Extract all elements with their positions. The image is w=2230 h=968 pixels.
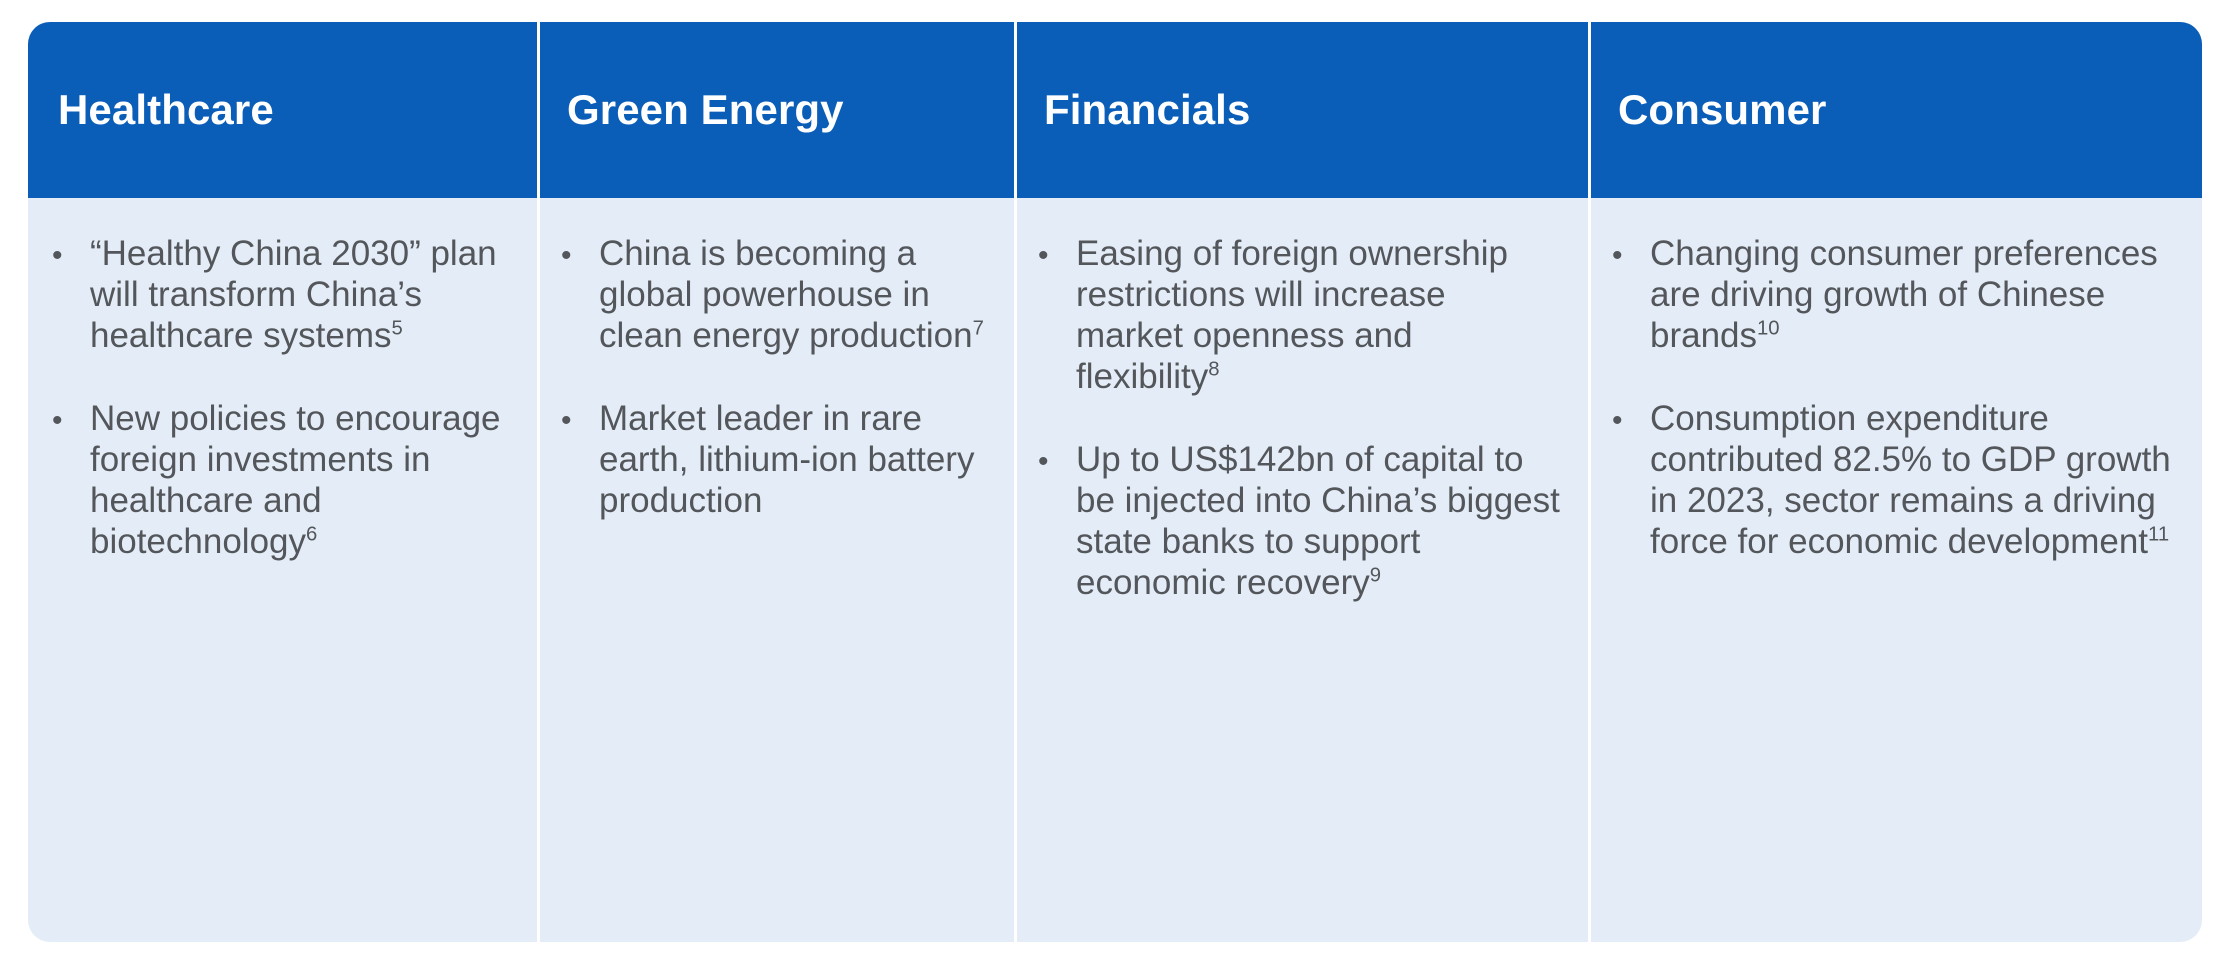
bullet-text: Market leader in rare earth, lithium-ion… (599, 399, 988, 522)
bullet-text: Changing consumer preferences are drivin… (1650, 234, 2176, 357)
bullet-text: China is becoming a global powerhouse in… (599, 234, 988, 357)
table-body-cell-healthcare: • “Healthy China 2030” plan will transfo… (28, 198, 537, 942)
column-header-label: Healthcare (58, 87, 274, 133)
table-body-cell-financials: • Easing of foreign ownership restrictio… (1014, 198, 1588, 942)
footnote-marker: 10 (1757, 317, 1780, 339)
column-header-label: Financials (1044, 87, 1250, 133)
footnote-marker: 6 (306, 523, 317, 545)
list-item: • Consumption expenditure contributed 82… (1612, 399, 2176, 563)
bullet-dot-icon: • (52, 234, 90, 276)
footnote-marker: 5 (392, 317, 403, 339)
bullet-dot-icon: • (1612, 399, 1650, 441)
bullet-dot-icon: • (1612, 234, 1650, 276)
list-item: • Market leader in rare earth, lithium-i… (561, 399, 988, 522)
column-header-label: Consumer (1618, 87, 1827, 133)
bullet-text: Consumption expenditure contributed 82.5… (1650, 399, 2176, 563)
list-item: • Easing of foreign ownership restrictio… (1038, 234, 1562, 398)
bullet-dot-icon: • (1038, 440, 1076, 482)
bullet-list: • Easing of foreign ownership restrictio… (1038, 234, 1562, 604)
bullet-dot-icon: • (561, 399, 599, 441)
list-item: • “Healthy China 2030” plan will transfo… (52, 234, 511, 357)
sector-highlights-table: Healthcare Green Energy Financials Consu… (28, 22, 2202, 942)
bullet-list: • “Healthy China 2030” plan will transfo… (52, 234, 511, 563)
bullet-dot-icon: • (52, 399, 90, 441)
bullet-text: Easing of foreign ownership restrictions… (1076, 234, 1562, 398)
table-body-cell-green-energy: • China is becoming a global powerhouse … (537, 198, 1014, 942)
footnote-marker: 7 (973, 317, 984, 339)
table-body-row: • “Healthy China 2030” plan will transfo… (28, 198, 2202, 942)
bullet-dot-icon: • (561, 234, 599, 276)
table-header-cell-financials: Financials (1014, 22, 1588, 198)
table-header-cell-healthcare: Healthcare (28, 22, 537, 198)
bullet-list: • Changing consumer preferences are driv… (1612, 234, 2176, 563)
footnote-marker: 11 (2148, 523, 2169, 545)
bullet-text: Up to US$142bn of capital to be injected… (1076, 440, 1562, 604)
bullet-text: “Healthy China 2030” plan will transform… (90, 234, 511, 357)
footnote-marker: 9 (1370, 564, 1381, 586)
table-header-row: Healthcare Green Energy Financials Consu… (28, 22, 2202, 198)
table-header-cell-consumer: Consumer (1588, 22, 2202, 198)
bullet-dot-icon: • (1038, 234, 1076, 276)
list-item: • Up to US$142bn of capital to be inject… (1038, 440, 1562, 604)
column-header-label: Green Energy (567, 87, 844, 133)
table-container: Healthcare Green Energy Financials Consu… (28, 22, 2202, 942)
list-item: • New policies to encourage foreign inve… (52, 399, 511, 563)
list-item: • Changing consumer preferences are driv… (1612, 234, 2176, 357)
table-body-cell-consumer: • Changing consumer preferences are driv… (1588, 198, 2202, 942)
list-item: • China is becoming a global powerhouse … (561, 234, 988, 357)
table-header-cell-green-energy: Green Energy (537, 22, 1014, 198)
bullet-text: New policies to encourage foreign invest… (90, 399, 511, 563)
footnote-marker: 8 (1208, 358, 1219, 380)
bullet-list: • China is becoming a global powerhouse … (561, 234, 988, 522)
